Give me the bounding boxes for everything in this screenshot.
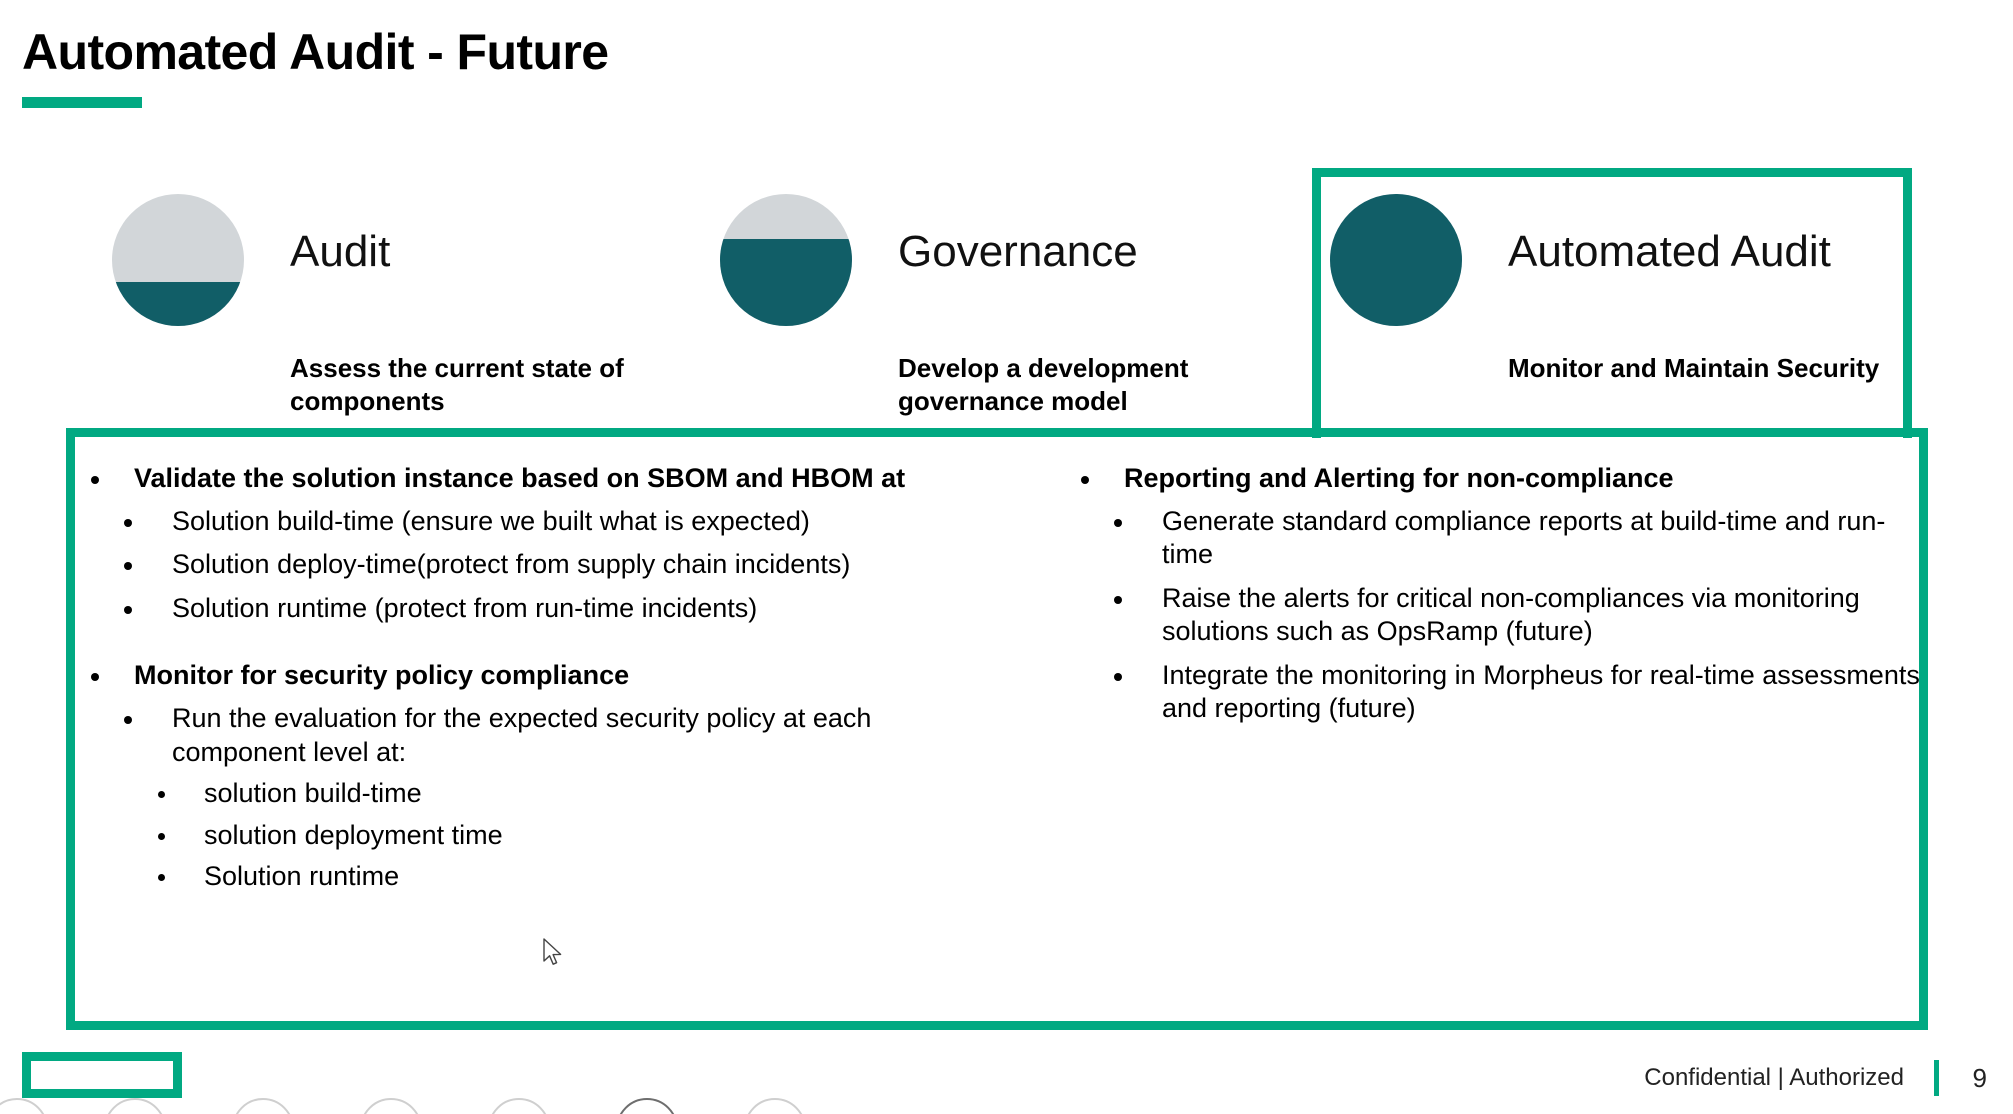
stage-item-audit[interactable]: Audit xyxy=(112,188,542,326)
stage-progress-circle-governance xyxy=(720,194,852,326)
bullet-item: Solution runtime (protect from run-time … xyxy=(110,592,1012,625)
bullet-text: Integrate the monitoring in Morpheus for… xyxy=(1162,660,1920,723)
mouse-cursor-icon xyxy=(543,938,565,968)
bullet-item: Solution deploy-time(protect from supply… xyxy=(110,548,1012,581)
bullet-dot-icon xyxy=(158,833,165,840)
bullet-item: solution deployment time xyxy=(144,819,1012,852)
bullet-item: Solution build-time (ensure we built wha… xyxy=(110,505,1012,538)
bullet-dot-icon xyxy=(1114,673,1122,681)
stage-label-audit: Audit xyxy=(290,230,390,274)
bullet-dot-icon xyxy=(124,562,132,570)
bullet-list-level1: Reporting and Alerting for non-complianc… xyxy=(1072,462,1932,495)
bullet-text: solution deployment time xyxy=(204,820,503,850)
bullet-dot-icon xyxy=(158,874,165,881)
bullet-dot-icon xyxy=(124,519,132,527)
bullet-list-level3: solution build-time solution deployment … xyxy=(144,777,1012,893)
details-column-left: Validate the solution instance based on … xyxy=(82,462,1012,894)
bullet-dot-icon xyxy=(1081,476,1089,484)
taskbar xyxy=(0,1096,2013,1114)
footer: Confidential | Authorized 9 xyxy=(1644,1060,1987,1096)
bullet-text: Solution deploy-time(protect from supply… xyxy=(172,549,850,579)
bullet-dot-icon xyxy=(124,606,132,614)
bullet-item: Integrate the monitoring in Morpheus for… xyxy=(1100,659,1932,726)
stage-progress-fill xyxy=(1330,194,1462,326)
stage-subtitle-audit: Assess the current state of components xyxy=(290,352,710,419)
bullet-group-spacer xyxy=(82,625,1012,659)
bullet-list-level2: Run the evaluation for the expected secu… xyxy=(110,702,1012,769)
taskbar-icon-3[interactable] xyxy=(232,1098,294,1114)
bullet-text: Raise the alerts for critical non-compli… xyxy=(1162,583,1860,646)
bullet-text: Reporting and Alerting for non-complianc… xyxy=(1124,463,1674,493)
highlight-frame-overlap-mask xyxy=(1321,420,1903,450)
bullet-text: Solution runtime xyxy=(204,861,399,891)
page-number: 9 xyxy=(1965,1063,1987,1094)
hpe-logo xyxy=(22,1052,182,1098)
bullet-item: Raise the alerts for critical non-compli… xyxy=(1100,582,1932,649)
bullet-item-heading: Monitor for security policy compliance xyxy=(82,659,1012,692)
bullet-item-heading: Validate the solution instance based on … xyxy=(82,462,1012,495)
stage-subtitle-governance: Develop a development governance model xyxy=(898,352,1318,419)
bullet-text: Validate the solution instance based on … xyxy=(134,463,905,493)
stage-progress-circle-automated-audit xyxy=(1330,194,1462,326)
bullet-list-level2: Generate standard compliance reports at … xyxy=(1100,505,1932,726)
bullet-dot-icon xyxy=(1114,596,1122,604)
bullet-text: Solution runtime (protect from run-time … xyxy=(172,593,757,623)
bullet-list-level1: Validate the solution instance based on … xyxy=(82,462,1012,495)
bullet-dot-icon xyxy=(158,791,165,798)
bullet-item-heading: Reporting and Alerting for non-complianc… xyxy=(1072,462,1932,495)
stage-label-governance: Governance xyxy=(898,230,1138,274)
bullet-dot-icon xyxy=(124,716,132,724)
bullet-dot-icon xyxy=(91,673,99,681)
bullet-dot-icon xyxy=(1114,519,1122,527)
bullet-text: solution build-time xyxy=(204,778,422,808)
stage-label-automated-audit: Automated Audit xyxy=(1508,230,1831,274)
stage-item-automated-audit[interactable]: Automated Audit xyxy=(1330,188,1760,326)
page-title: Automated Audit - Future xyxy=(22,26,1222,79)
taskbar-icon-1[interactable] xyxy=(0,1098,48,1114)
taskbar-icon-5[interactable] xyxy=(488,1098,550,1114)
taskbar-icon-2[interactable] xyxy=(104,1098,166,1114)
title-accent-underline xyxy=(22,97,142,108)
slide-canvas: Automated Audit - Future Audit Governanc… xyxy=(0,0,2013,1114)
taskbar-icon-7[interactable] xyxy=(744,1098,806,1114)
stage-item-governance[interactable]: Governance xyxy=(720,188,1140,326)
stage-progress-fill xyxy=(112,282,244,326)
stage-progress-fill xyxy=(720,239,852,326)
footer-separator xyxy=(1934,1060,1939,1096)
taskbar-icon-4[interactable] xyxy=(360,1098,422,1114)
bullet-item: Run the evaluation for the expected secu… xyxy=(110,702,1012,769)
bullet-dot-icon xyxy=(91,476,99,484)
bullet-list-level1: Monitor for security policy compliance xyxy=(82,659,1012,692)
confidentiality-label: Confidential | Authorized xyxy=(1644,1064,1904,1092)
bullet-text: Generate standard compliance reports at … xyxy=(1162,506,1885,569)
bullet-item: Solution runtime xyxy=(144,860,1012,893)
bullet-item: solution build-time xyxy=(144,777,1012,810)
bullet-list-level2: Solution build-time (ensure we built wha… xyxy=(110,505,1012,625)
stage-progress-circle-audit xyxy=(112,194,244,326)
title-block: Automated Audit - Future xyxy=(22,26,1222,108)
details-column-right: Reporting and Alerting for non-complianc… xyxy=(1072,462,1932,726)
taskbar-icon-6[interactable] xyxy=(616,1098,678,1114)
bullet-item: Generate standard compliance reports at … xyxy=(1100,505,1932,572)
stage-subtitle-automated-audit: Monitor and Maintain Security xyxy=(1508,352,1928,385)
bullet-text: Solution build-time (ensure we built wha… xyxy=(172,506,810,536)
bullet-text: Monitor for security policy compliance xyxy=(134,660,629,690)
bullet-text: Run the evaluation for the expected secu… xyxy=(172,703,871,766)
